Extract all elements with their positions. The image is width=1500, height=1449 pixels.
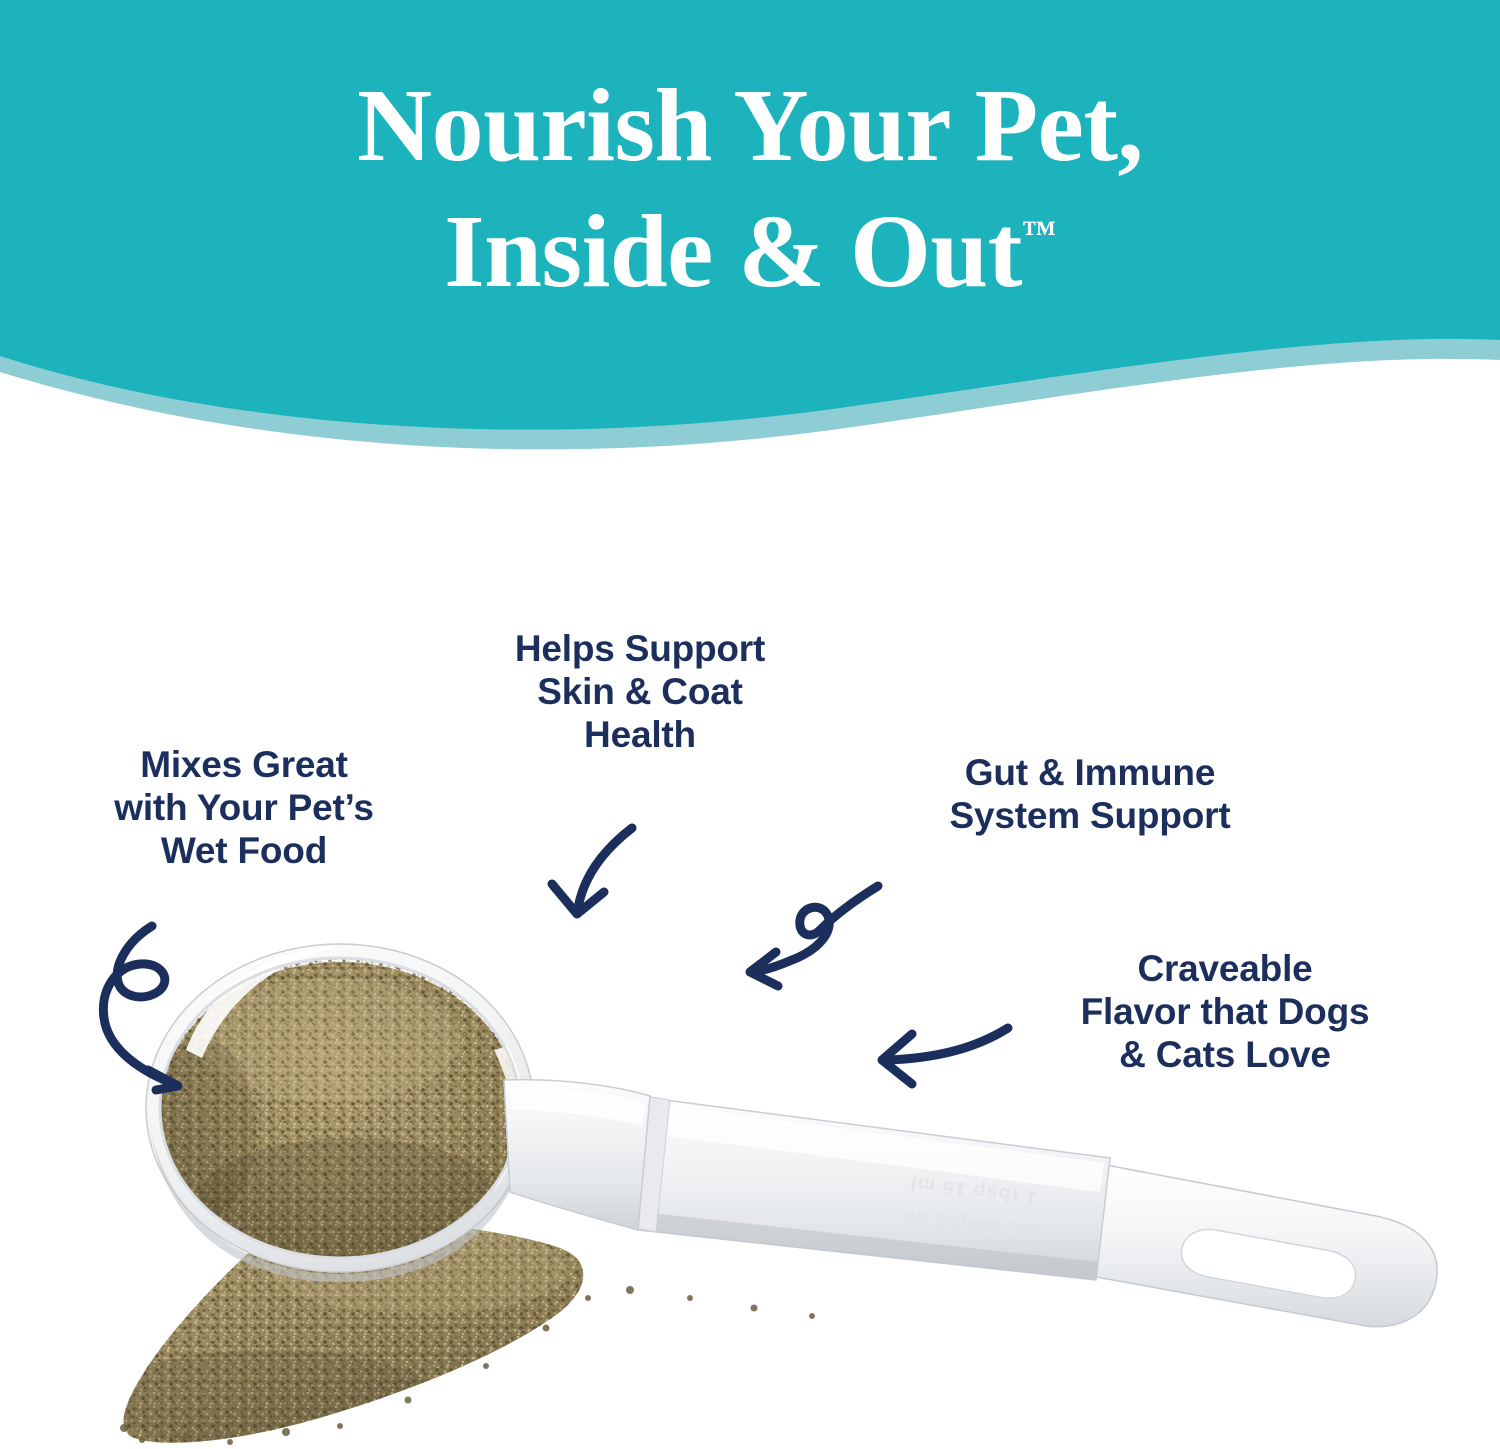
callout-mixes-line-3: Wet Food (44, 830, 444, 873)
callout-gut-line-1: Gut & Immune (870, 752, 1310, 795)
loop-arrow-left-icon (736, 876, 886, 994)
callout-crave-line-2: Flavor that Dogs (1000, 991, 1450, 1034)
curved-arrow-down-left-icon (536, 820, 656, 930)
callout-craveable-flavor: Craveable Flavor that Dogs & Cats Love (1000, 948, 1450, 1077)
callout-gut-immune-support: Gut & Immune System Support (870, 752, 1310, 838)
callout-skin-line-1: Helps Support (440, 628, 840, 671)
callout-crave-line-1: Craveable (1000, 948, 1450, 991)
callout-skin-line-3: Health (440, 714, 840, 757)
scoop-handle: 1/2 tbsp 8 ml 1 tbsp 15 ml (634, 1096, 1437, 1327)
infographic-page: Nourish Your Pet, Inside & Out™ (0, 0, 1500, 1449)
callout-gut-line-2: System Support (870, 795, 1310, 838)
header-band: Nourish Your Pet, Inside & Out™ (0, 0, 1500, 480)
callout-mixes-line-1: Mixes Great (44, 744, 444, 787)
callout-crave-line-3: & Cats Love (1000, 1034, 1450, 1077)
callout-mixes-line-2: with Your Pet’s (44, 787, 444, 830)
curved-arrow-left-icon (866, 1006, 1016, 1092)
callout-skin-coat-health: Helps Support Skin & Coat Health (440, 628, 840, 757)
callout-skin-line-2: Skin & Coat (440, 671, 840, 714)
header-wave-graphic (0, 0, 1500, 480)
curly-loop-arrow-icon (78, 918, 248, 1093)
callout-mixes-great: Mixes Great with Your Pet’s Wet Food (44, 744, 444, 873)
